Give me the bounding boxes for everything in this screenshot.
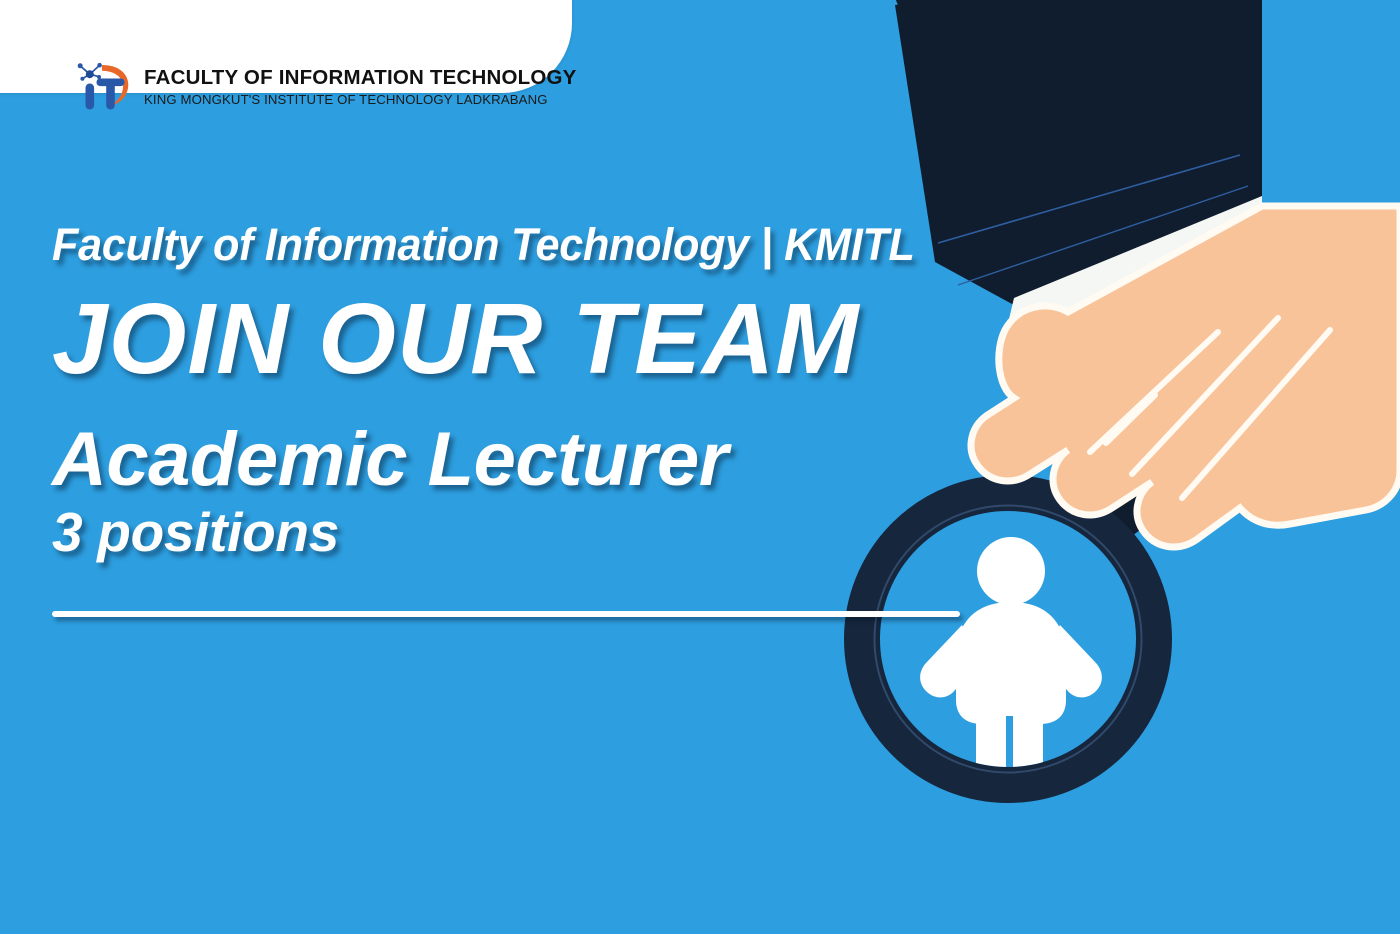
logo-title: FACULTY OF INFORMATION TECHNOLOGY [144, 68, 577, 89]
poster-text-block: Faculty of Information Technology | KMIT… [52, 222, 992, 560]
divider [52, 611, 960, 617]
eyebrow-text: Faculty of Information Technology | KMIT… [52, 222, 954, 267]
hand-icon [971, 206, 1400, 562]
job-role-text: Academic Lecturer [52, 421, 992, 499]
logo-text-block: FACULTY OF INFORMATION TECHNOLOGY KING M… [144, 68, 577, 106]
page-title: JOIN OUR TEAM [52, 289, 992, 389]
magnifier-handle-icon [1050, 433, 1214, 543]
recruitment-poster: FACULTY OF INFORMATION TECHNOLOGY KING M… [0, 0, 1400, 934]
logo-lockup: FACULTY OF INFORMATION TECHNOLOGY KING M… [72, 56, 577, 118]
it-molecule-logo-icon [72, 56, 134, 118]
shirt-cuff-icon [1005, 196, 1262, 386]
magnifier-handle-top-icon [1272, 318, 1353, 430]
logo-subtitle: KING MONGKUT'S INSTITUTE OF TECHNOLOGY L… [144, 93, 577, 106]
position-count-text: 3 positions [52, 505, 992, 560]
person-silhouette-icon [920, 537, 1102, 816]
